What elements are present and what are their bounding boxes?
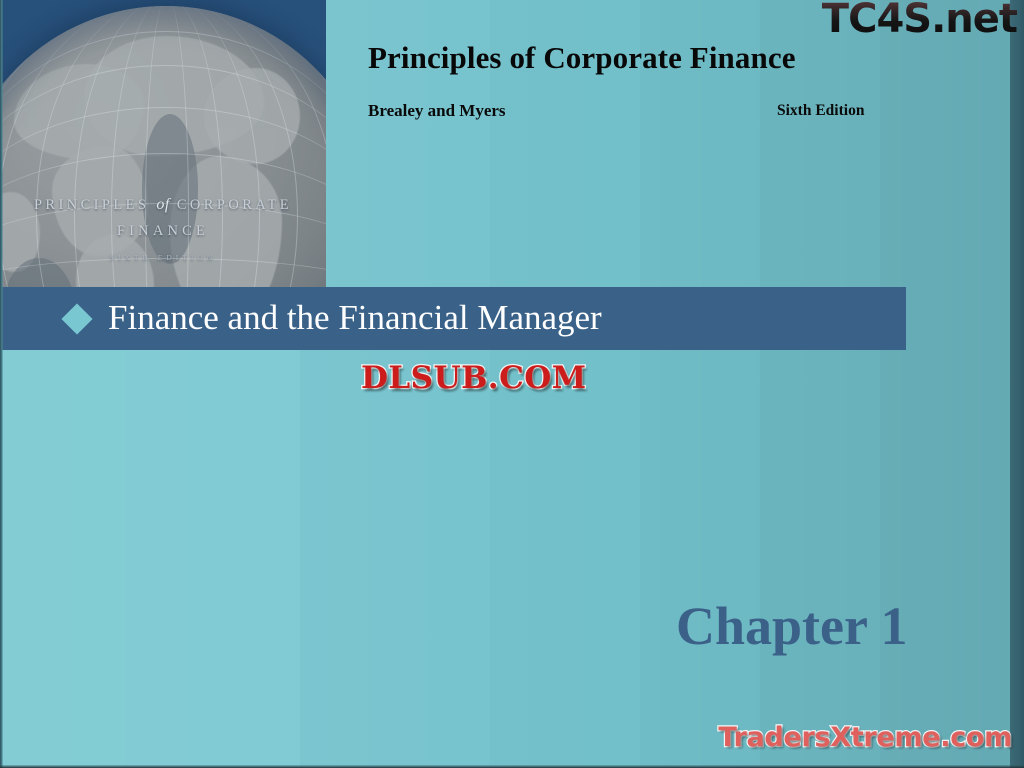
cover-title-of: of bbox=[156, 196, 169, 213]
slide-title-bar: Finance and the Financial Manager bbox=[0, 287, 906, 350]
watermark-tc4s: TC4S.net bbox=[822, 0, 1017, 40]
slide-title-text: Finance and the Financial Manager bbox=[108, 300, 602, 338]
slide-left-edge bbox=[0, 0, 3, 768]
book-cover-image: PRINCIPLES of CORPORATE FINANCE SIXTH ED… bbox=[0, 0, 326, 288]
chapter-label: Chapter 1 bbox=[676, 595, 908, 657]
slide-canvas: PRINCIPLES of CORPORATE FINANCE SIXTH ED… bbox=[0, 0, 1024, 768]
cover-title-line-2: FINANCE bbox=[0, 223, 326, 240]
cover-title-line-1: PRINCIPLES of CORPORATE bbox=[0, 196, 326, 214]
edition-label: Sixth Edition bbox=[777, 102, 864, 120]
page-title: Principles of Corporate Finance bbox=[368, 40, 796, 76]
cover-title-line-3: SIXTH EDITION bbox=[0, 253, 326, 262]
watermark-tradersxtreme: TradersXtreme.com bbox=[718, 722, 1012, 753]
authors-label: Brealey and Myers bbox=[368, 101, 506, 121]
watermark-dlsub: DLSUB.COM bbox=[361, 360, 587, 396]
slide-right-edge bbox=[1020, 0, 1024, 768]
book-cover-title-block: PRINCIPLES of CORPORATE FINANCE SIXTH ED… bbox=[0, 196, 326, 262]
diamond-bullet-icon bbox=[61, 303, 92, 334]
cover-title-corporate: CORPORATE bbox=[177, 197, 292, 213]
cover-title-principles: PRINCIPLES bbox=[34, 197, 149, 213]
